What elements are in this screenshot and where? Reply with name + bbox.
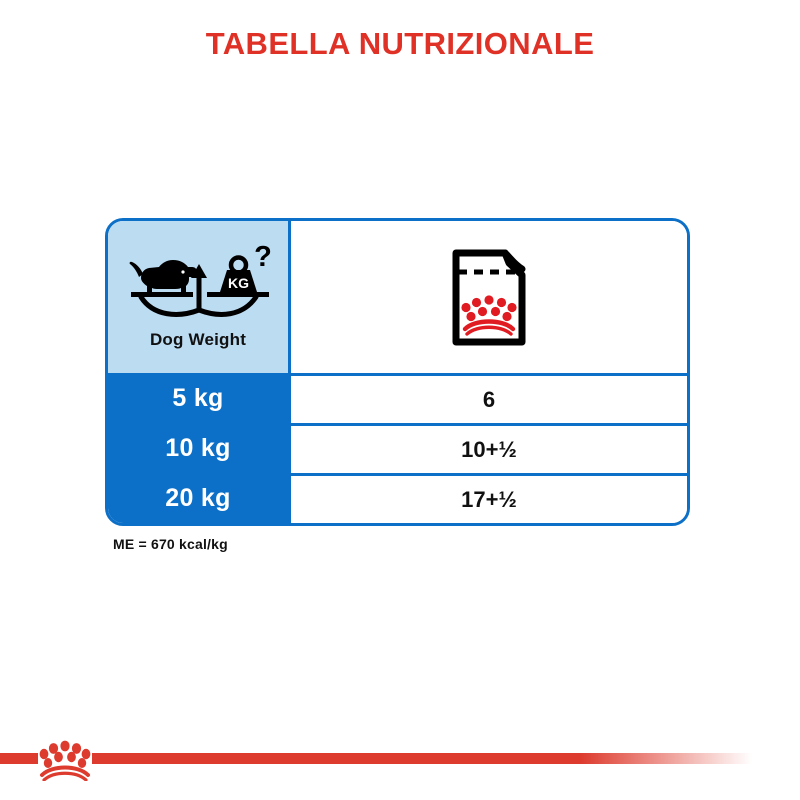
metabolisable-energy-footnote: ME = 670 kcal/kg [113,536,228,552]
dog-weight-scale-icon: KG ? [123,244,273,322]
nutrition-table: KG ? Dog Weight [105,218,690,526]
cell-dog-weight: 5 kg [108,373,288,423]
pouch-sachet-icon [447,245,531,349]
table-body: 5 kg 6 10 kg 10+½ 20 kg 17+½ [108,373,687,523]
scale-pan-right [207,292,269,297]
footer-bar-right-segment [92,753,752,764]
footer-bar-left-segment [0,753,38,764]
header-cell-dog-weight: KG ? Dog Weight [108,221,288,373]
cell-dog-weight: 10 kg [108,423,288,473]
question-mark-icon: ? [254,244,272,273]
cell-feeding-amount: 17+½ [288,473,687,523]
table-row: 5 kg 6 [108,373,687,423]
cell-feeding-amount: 6 [288,373,687,423]
dog-weight-label: Dog Weight [150,330,246,350]
page-title: TABELLA NUTRIZIONALE [0,26,800,62]
cell-dog-weight: 20 kg [108,473,288,523]
table-header-row: KG ? Dog Weight [108,221,687,373]
table-row: 20 kg 17+½ [108,473,687,523]
brand-footer-bar [0,740,800,800]
cell-feeding-amount: 10+½ [288,423,687,473]
svg-text:KG: KG [228,275,249,291]
table-row: 10 kg 10+½ [108,423,687,473]
header-cell-product [288,221,687,373]
dog-silhouette [130,260,197,294]
royal-canin-crown-logo [36,731,94,781]
kg-weight-icon: KG [220,258,257,293]
